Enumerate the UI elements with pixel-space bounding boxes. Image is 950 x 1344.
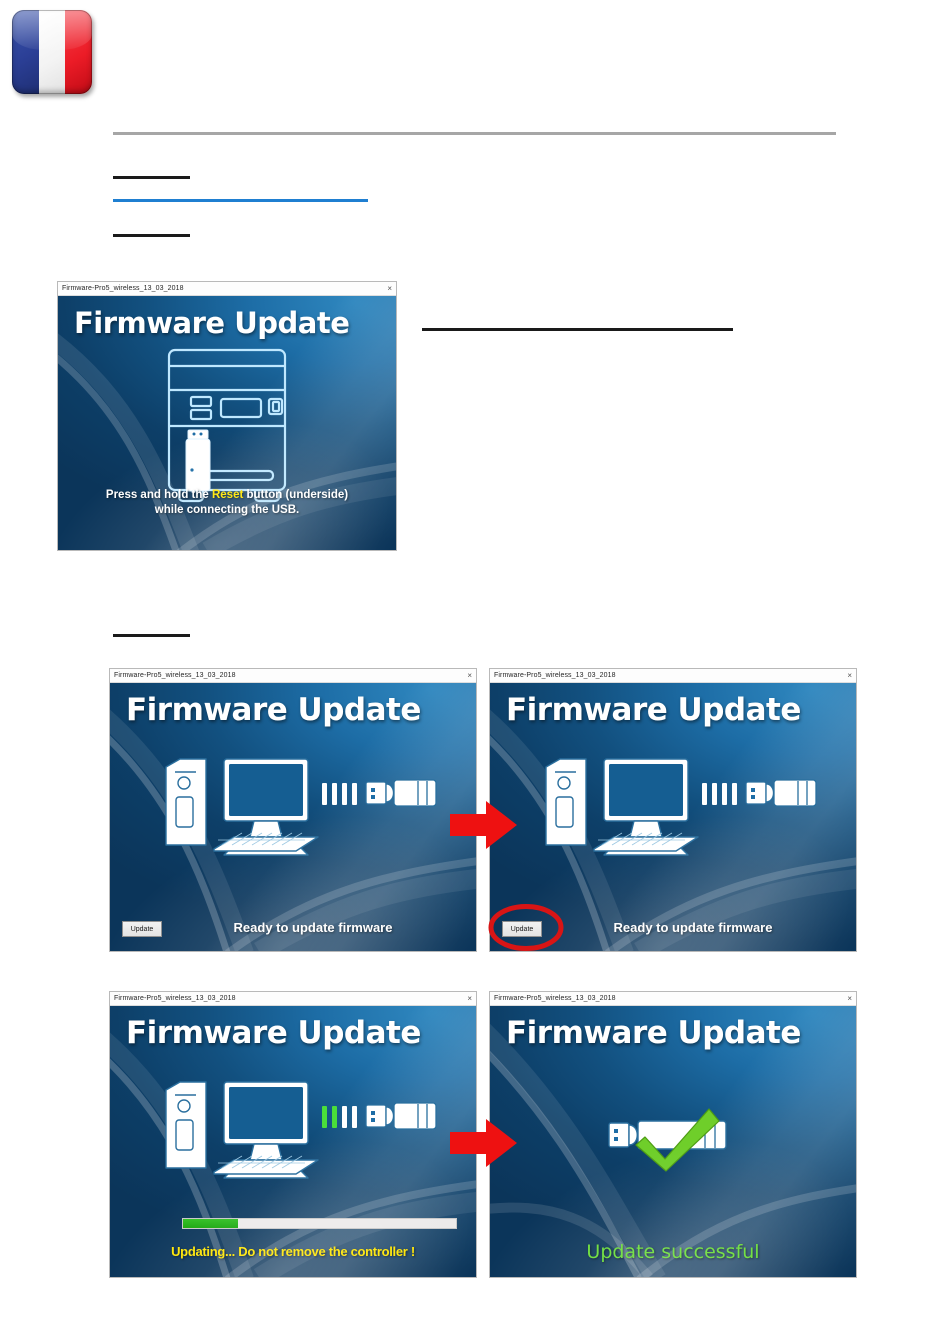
dialog-body: Firmware Update Update successful [490, 1006, 856, 1277]
progress-bar [182, 1218, 457, 1229]
french-flag-badge [12, 10, 92, 94]
section-rule [422, 328, 733, 331]
titlebar: Firmware-Pro5_wireless_13_03_2018 × [110, 669, 476, 683]
dialog-heading: Firmware Update [126, 692, 421, 728]
dialog-heading: Firmware Update [126, 1015, 421, 1051]
window-title: Firmware-Pro5_wireless_13_03_2018 [494, 995, 841, 1002]
caption-line-1: Press and hold the Reset button (undersi… [58, 488, 396, 503]
pc-and-usb-dongle-illustration [530, 753, 820, 871]
window-title: Firmware-Pro5_wireless_13_03_2018 [62, 285, 381, 292]
flag-edge-shadow [12, 10, 92, 94]
titlebar: Firmware-Pro5_wireless_13_03_2018 × [490, 669, 856, 683]
progress-bar-fill [183, 1219, 238, 1228]
dialog-ready-plain[interactable]: Firmware-Pro5_wireless_13_03_2018 × Firm… [109, 668, 477, 952]
heading-rule-2 [113, 234, 190, 237]
dialog-success[interactable]: Firmware-Pro5_wireless_13_03_2018 × Firm… [489, 991, 857, 1278]
pc-and-usb-dongle-illustration [150, 753, 440, 871]
window-title: Firmware-Pro5_wireless_13_03_2018 [494, 672, 841, 679]
dialog-ready-highlighted[interactable]: Firmware-Pro5_wireless_13_03_2018 × Firm… [489, 668, 857, 952]
dialog-caption: Ready to update firmware [530, 920, 856, 935]
dialog-caption: Ready to update firmware [150, 920, 476, 935]
controller-with-usb-stick-illustration [161, 344, 301, 506]
link-rule[interactable] [113, 199, 368, 202]
dialog-caption: Updating... Do not remove the controller… [110, 1244, 476, 1259]
caption-prefix: Press and hold the [106, 489, 212, 501]
close-icon[interactable]: × [461, 672, 472, 680]
usb-dongle-with-green-check-illustration [605, 1101, 735, 1173]
dialog-heading: Firmware Update [506, 1015, 801, 1051]
dialog-body: Firmware Update [490, 683, 856, 951]
caption-suffix: button (underside) [243, 489, 348, 501]
caption-line-2: while connecting the USB. [58, 503, 396, 518]
titlebar: Firmware-Pro5_wireless_13_03_2018 × [490, 992, 856, 1006]
heading-rule-3 [113, 634, 190, 637]
dialog-body: Firmware Update [110, 683, 476, 951]
dialog-body: Firmware Update [110, 1006, 476, 1277]
top-grey-rule [113, 132, 836, 135]
heading-rule-1 [113, 176, 190, 179]
caption-highlight-reset: Reset [212, 489, 243, 501]
dialog-updating[interactable]: Firmware-Pro5_wireless_13_03_2018 × Firm… [109, 991, 477, 1278]
dialog-heading: Firmware Update [506, 692, 801, 728]
dialog-caption: Press and hold the Reset button (undersi… [58, 488, 396, 518]
dialog-reset-usb[interactable]: Firmware-Pro5_wireless_13_03_2018 × Firm… [57, 281, 397, 551]
dialog-caption: Update successful [490, 1241, 856, 1263]
window-title: Firmware-Pro5_wireless_13_03_2018 [114, 672, 461, 679]
dialog-body: Firmware Update [58, 296, 396, 550]
pc-and-usb-dongle-transferring-illustration [150, 1076, 440, 1194]
dialog-heading: Firmware Update [74, 306, 349, 340]
titlebar: Firmware-Pro5_wireless_13_03_2018 × [110, 992, 476, 1006]
close-icon[interactable]: × [841, 995, 852, 1003]
close-icon[interactable]: × [461, 995, 472, 1003]
titlebar: Firmware-Pro5_wireless_13_03_2018 × [58, 282, 396, 296]
close-icon[interactable]: × [381, 285, 392, 293]
window-title: Firmware-Pro5_wireless_13_03_2018 [114, 995, 461, 1002]
close-icon[interactable]: × [841, 672, 852, 680]
